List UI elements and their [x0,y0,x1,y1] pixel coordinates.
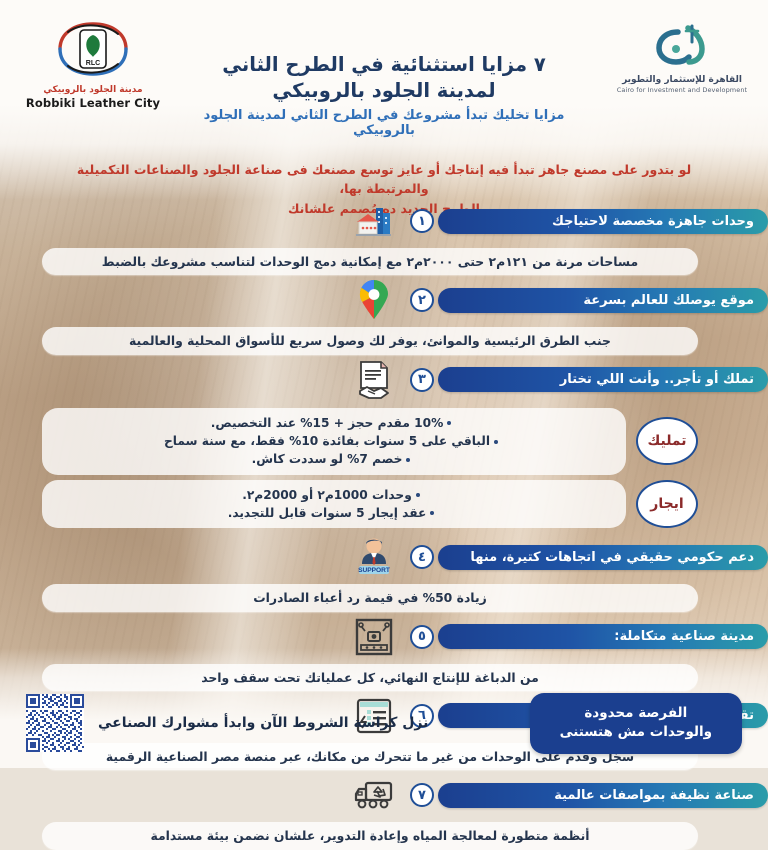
rental-details: وحدات 1000م٢ أو 2000م٢. عقد إيجار 5 سنوا… [42,480,626,529]
feature-4-number: ٤ [406,545,438,569]
feature-1-title: وحدات جاهزة مخصصة لاحتياجك [552,214,754,229]
feature-2-title-bar[interactable]: موقع يوصلك للعالم بسرعة [438,288,768,313]
cta-line-1: الفرصة محدودة [560,704,712,724]
feature-5-detail: من الدباغة للإنتاج النهائي، كل عملياتك ت… [42,664,698,691]
feature-1-detail: مساحات مرنة من ١٢١م٢ حتى ٢٠٠٠م٢ مع إمكان… [42,248,698,275]
feature-2-number: ٢ [406,288,438,312]
recycling-truck-icon [342,772,406,818]
feature-item-7: صناعة نظيفة بمواصفات عالمية ٧ [0,772,768,849]
feature-5-title-bar[interactable]: مدينة صناعية متكاملة: [438,624,768,649]
rental-line-1: وحدات 1000م٢ أو 2000م٢. [58,486,610,504]
feature-5-title: مدينة صناعية متكاملة: [614,629,754,644]
ownership-line-3: خصم 7% لو سددت كاش. [58,450,610,468]
ownership-line-1: 10% مقدم حجز + 15% عند التخصيص. [58,414,610,432]
rental-badge: ايجار [636,480,698,528]
feature-item-4: دعم حكومي حقيقي في اتجاهات كتيرة، منها ٤… [0,534,768,611]
feature-4-title: دعم حكومي حقيقي في اتجاهات كتيرة، منها [470,550,754,565]
feature-1-title-bar[interactable]: وحدات جاهزة مخصصة لاحتياجك [438,209,768,234]
industrial-machine-icon [342,614,406,660]
feature-2-detail: جنب الطرق الرئيسية والموانئ، يوفر لك وصو… [42,327,698,354]
feature-7-detail: أنظمة متطورة لمعالجة المياه وإعادة التدو… [42,822,698,849]
page-footer: الفرصة محدودة والوحدات مش هتستنى نزل كرا… [0,693,768,754]
ownership-option: تمليك 10% مقدم حجز + 15% عند التخصيص. ال… [42,408,698,475]
ownership-line-2: الباقي على 5 سنوات بفائدة 10% فقط، مع سن… [58,432,610,450]
cta-line-2: والوحدات مش هتستنى [560,723,712,743]
limited-offer-badge[interactable]: الفرصة محدودة والوحدات مش هتستنى [530,693,742,754]
feature-4-detail: زيادة 50% في قيمة رد أعباء الصادرات [42,584,698,611]
feature-item-5: مدينة صناعية متكاملة: ٥ [0,614,768,691]
factory-icon [342,198,406,244]
feature-item-3: تملك أو تأجر.. وأنت اللي تختار ٣ [0,357,768,528]
feature-7-title: صناعة نظيفة بمواصفات عالمية [554,788,754,803]
feature-1-number: ١ [406,209,438,233]
feature-item-2: موقع يوصلك للعالم بسرعة ٢ جنب الطرق الرئ… [0,277,768,354]
feature-5-number: ٥ [406,625,438,649]
rental-line-2: عقد إيجار 5 سنوات قابل للتجديد. [58,504,610,522]
ownership-details: 10% مقدم حجز + 15% عند التخصيص. الباقي ع… [42,408,626,475]
feature-4-title-bar[interactable]: دعم حكومي حقيقي في اتجاهات كتيرة، منها [438,545,768,570]
svg-text:SUPPORT: SUPPORT [358,567,390,574]
rental-option: ايجار وحدات 1000م٢ أو 2000م٢. عقد إيجار … [42,480,698,529]
qr-code[interactable] [26,694,84,752]
map-pin-icon [342,277,406,323]
title-line-1: ٧ مزايا استثنائية في الطرح الثاني [175,52,593,78]
title-line-2: لمدينة الجلود بالروبيكي [175,78,593,104]
page-title: ٧ مزايا استثنائية في الطرح الثاني لمدينة… [0,52,768,138]
feature-7-number: ٧ [406,783,438,807]
feature-7-title-bar[interactable]: صناعة نظيفة بمواصفات عالمية [438,783,768,808]
download-brochure-text: نزل كراسة الشروط الآن وابدأ مشوارك الصنا… [98,715,428,731]
feature-3-number: ٣ [406,368,438,392]
feature-3-title-bar[interactable]: تملك أو تأجر.. وأنت اللي تختار [438,367,768,392]
ownership-badge: تمليك [636,417,698,465]
support-agent-icon: SUPPORT [342,534,406,580]
page-subtitle: مزايا تخليك تبدأ مشروعك في الطرح الثاني … [175,108,593,138]
feature-2-title: موقع يوصلك للعالم بسرعة [583,293,754,308]
handshake-contract-icon [342,357,406,403]
feature-item-1: وحدات جاهزة مخصصة لاحتياجك ١ [0,198,768,275]
page-header: RLC مدينة الجلود بالروبيكي Robbiki Leath… [0,0,768,150]
feature-3-title: تملك أو تأجر.. وأنت اللي تختار [560,372,754,387]
